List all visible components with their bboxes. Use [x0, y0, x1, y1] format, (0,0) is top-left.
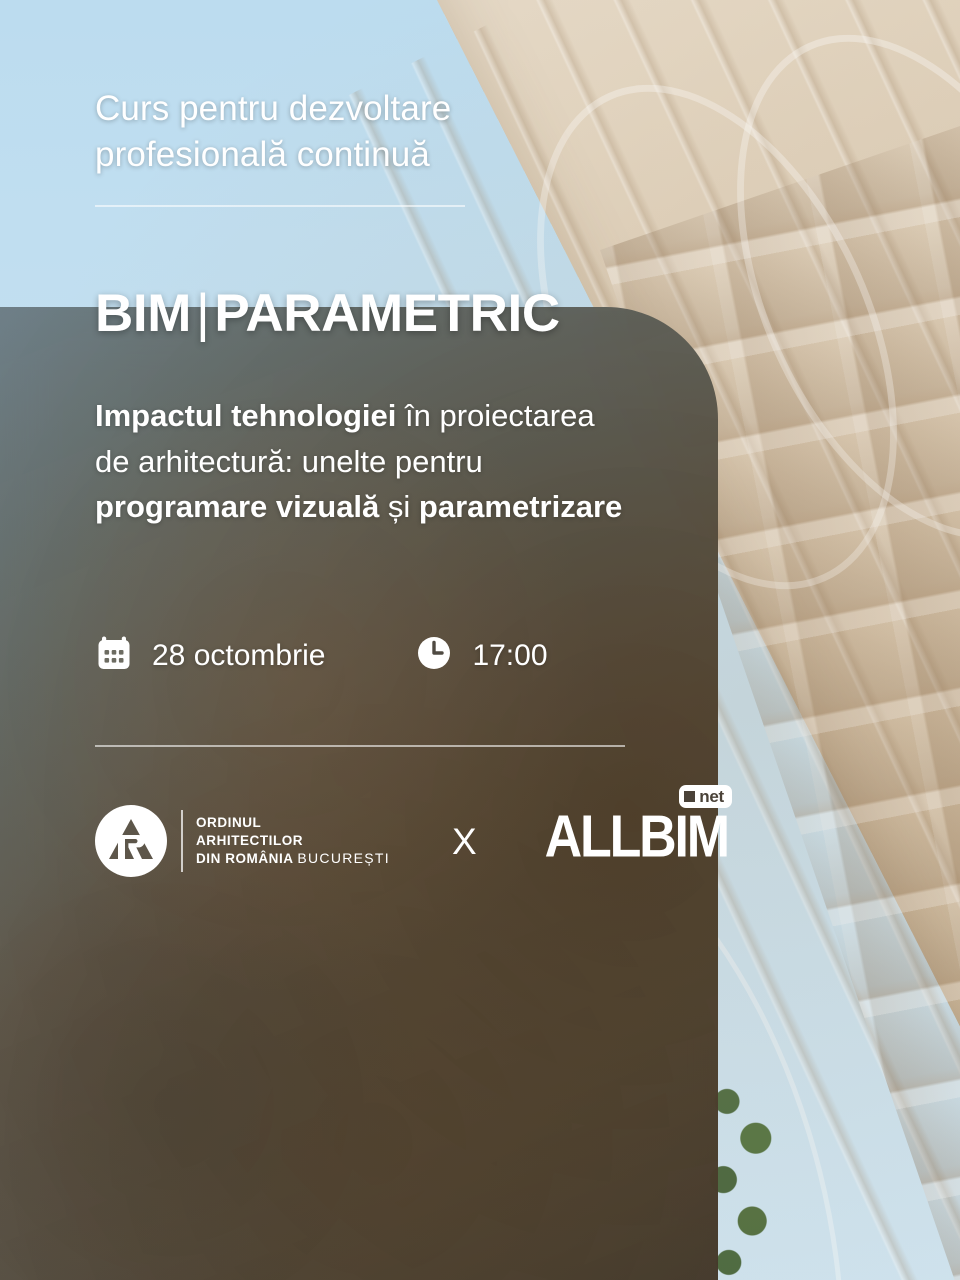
oar-vertical-divider — [181, 810, 183, 872]
headline-left: BIM — [95, 284, 191, 343]
subtitle-text: Impactul tehnologiei în proiectarea de a… — [95, 393, 625, 530]
oar-emblem-icon — [95, 805, 167, 877]
deck-part-5: parametrizare — [419, 489, 622, 524]
kicker-text: Curs pentru dezvoltare profesională cont… — [95, 86, 595, 177]
calendar-icon — [95, 634, 133, 677]
event-date-label: 28 octombrie — [152, 639, 325, 673]
headline-right: PARAMETRIC — [214, 284, 559, 343]
allbim-badge-square-icon — [684, 791, 695, 802]
allbim-net-badge: net — [679, 785, 732, 808]
oar-line-1: ORDINUL — [196, 815, 261, 830]
footer-logos: ORDINUL ARHITECTILOR DIN ROMÂNIA BUCUREȘ… — [95, 805, 728, 877]
oar-name: ORDINUL ARHITECTILOR DIN ROMÂNIA — [196, 815, 303, 866]
oar-line-2: ARHITECTILOR — [196, 833, 303, 848]
oar-logo: ORDINUL ARHITECTILOR DIN ROMÂNIA BUCUREȘ… — [95, 805, 390, 877]
oar-line-3: DIN ROMÂNIA — [196, 851, 293, 866]
event-time: 17:00 — [415, 634, 547, 677]
oar-text-block: ORDINUL ARHITECTILOR DIN ROMÂNIA BUCUREȘ… — [196, 814, 390, 868]
clock-icon — [415, 634, 453, 677]
allbim-wordmark: ALLBIM — [545, 808, 728, 867]
allbim-logo: ALLBIM net — [545, 815, 728, 867]
logo-separator: X — [452, 823, 477, 860]
divider-top — [95, 205, 465, 207]
allbim-badge-text: net — [699, 788, 724, 805]
deck-part-4: și — [379, 489, 419, 524]
deck-part-3: programare vizuală — [95, 489, 379, 524]
poster-content: Curs pentru dezvoltare profesională cont… — [0, 0, 960, 1280]
page-title: BIM|PARAMETRIC — [95, 287, 560, 340]
deck-part-1: Impactul tehnologiei — [95, 398, 396, 433]
divider-bottom — [95, 745, 625, 747]
event-poster: Curs pentru dezvoltare profesională cont… — [0, 0, 960, 1280]
event-time-label: 17:00 — [472, 639, 547, 673]
headline-separator: | — [191, 284, 214, 343]
event-date: 28 octombrie — [95, 634, 325, 677]
event-meta: 28 octombrie 17:00 — [95, 634, 548, 677]
oar-city: BUCUREȘTI — [297, 850, 390, 866]
